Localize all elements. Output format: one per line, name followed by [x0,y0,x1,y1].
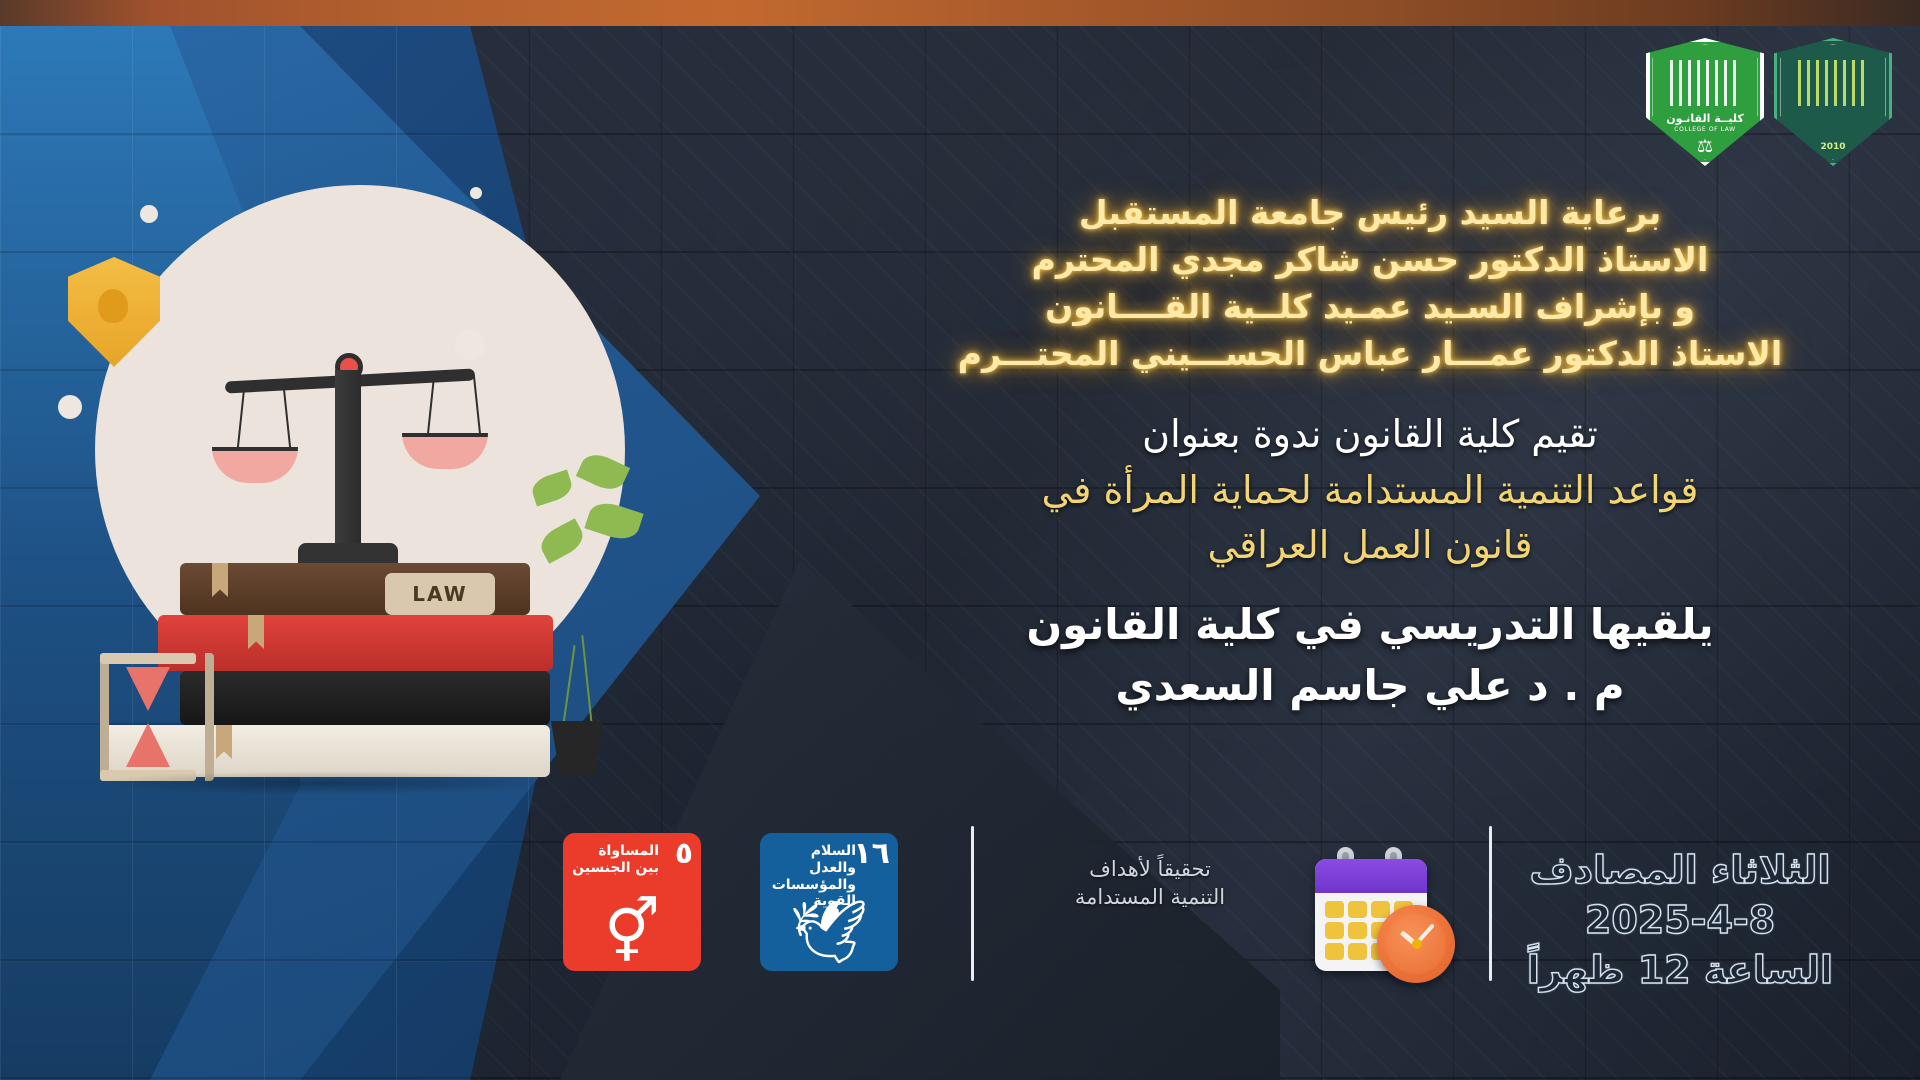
plant-stem [581,635,592,725]
al-mustaqbal-university-logo: 2010 [1774,38,1892,166]
book-stack-item [158,615,553,671]
patronage-block: برعاية السيد رئيس جامعة المستقبل الاستاذ… [860,190,1880,377]
event-day: الثلاثاء المصادف [1480,845,1880,895]
law-label: LAW [385,573,495,615]
patronage-line: برعاية السيد رئيس جامعة المستقبل [860,190,1880,237]
scales-post [335,370,361,560]
university-logos: كليــة القانـون COLLEGE OF LAW ⚖ 2010 [1646,38,1892,166]
event-datetime: الثلاثاء المصادف 2025-4-8 الساعة 12 ظهرا… [1480,845,1880,995]
law-illustration: LAW [40,175,660,795]
speaker-block: يلقيها التدريسي في كلية القانون م . د عل… [860,595,1880,717]
illustration-shadow [88,771,568,795]
speaker-name: م . د علي جاسم السعدي [860,656,1880,717]
logo-year: 2010 [1774,142,1892,152]
seminar-intro: تقيم كلية القانون ندوة بعنوان [860,407,1880,462]
decor-dot [140,205,158,223]
sdg-label: المساواة بين الجنسين [571,843,659,877]
decor-dot [58,395,82,419]
scales-icon: ⚖ [1646,138,1764,156]
sdg-badge-5: ٥ المساواة بين الجنسين ⚥ [563,833,701,971]
event-time: الساعة 12 ظهراً [1480,945,1880,995]
hourglass-icon [100,653,196,781]
sdg-number: ٥ [675,839,693,869]
sdg-note: تحقيقاً لأهداف التنمية المستدامة [1060,855,1240,912]
calendar-clock-icon [1305,845,1465,985]
sdg-badge-16: ١٦ السلام والعدل والمؤسسات القوية 🕊 [760,833,898,971]
gender-equality-icon: ⚥ [563,901,701,963]
patronage-line: و بإشراف السـيد عمـيد كلــية القــــانون [860,284,1880,331]
peace-dove-icon: 🕊 [760,901,898,963]
patronage-line: الاستاذ الدكتور حسن شاكر مجدي المحترم [860,237,1880,284]
logo-name-en: COLLEGE OF LAW [1646,126,1764,133]
top-orange-strip [0,0,1920,26]
divider-left [971,826,974,981]
plant-pot [546,721,608,775]
event-date: 2025-4-8 [1585,895,1775,945]
sdg-number: ١٦ [853,839,890,869]
decor-dot [455,330,485,360]
poster-text-column: برعاية السيد رئيس جامعة المستقبل الاستاذ… [860,190,1880,717]
poster-canvas: LAW كليــة القانـون COLLEGE OF LAW ⚖ [0,0,1920,1080]
decor-dot [470,187,482,199]
seminar-block: تقيم كلية القانون ندوة بعنوان قواعد التن… [860,407,1880,572]
patronage-line: الاستاذ الدكتور عمـــار عباس الحســـيني … [860,331,1880,378]
plant-stem [562,645,575,724]
logo-name-ar: كليــة القانـون [1646,112,1764,125]
book-stack-item [180,671,550,725]
speaker-role: يلقيها التدريسي في كلية القانون [860,595,1880,656]
seminar-title-line: قانون العمل العراقي [860,518,1880,573]
seminar-title-line: قواعد التنمية المستدامة لحماية المرأة في [860,463,1880,518]
college-of-law-logo: كليــة القانـون COLLEGE OF LAW ⚖ [1646,38,1764,166]
